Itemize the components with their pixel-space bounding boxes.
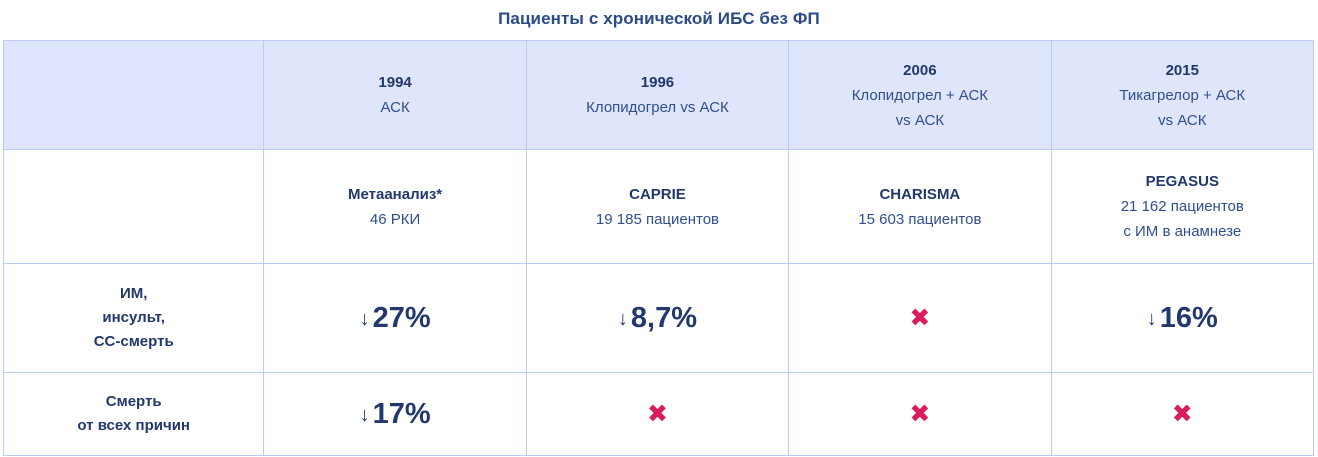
table-header-row: 1994 АСК 1996 Клопидогрел vs АСК 2006 Кл… bbox=[4, 41, 1314, 150]
cell-death-2015: ✖ bbox=[1051, 373, 1313, 456]
row-label-mi-stroke-cvdeath: ИМ, инсульт, СС-смерть bbox=[4, 264, 264, 373]
header-cell-2015: 2015 Тикагрелор + АСКvs АСК bbox=[1051, 41, 1313, 150]
cross-icon: ✖ bbox=[1172, 400, 1193, 428]
header-desc: Клопидогрел vs АСК bbox=[527, 95, 788, 120]
row-label-line: от всех причин bbox=[4, 414, 263, 438]
cell-death-2006: ✖ bbox=[789, 373, 1051, 456]
table-row-all-cause-death: Смерть от всех причин ↓17% ✖ ✖ ✖ bbox=[4, 373, 1314, 456]
study-subtext: 21 162 пациентовс ИМ в анамнезе bbox=[1052, 194, 1313, 244]
header-cell-1996: 1996 Клопидогрел vs АСК bbox=[526, 41, 788, 150]
study-subtext: 46 РКИ bbox=[264, 207, 525, 232]
slide-container: Пациенты с хронической ИБС без ФП 1994 А… bbox=[0, 0, 1318, 457]
cell-mi-2006: ✖ bbox=[789, 264, 1051, 373]
header-corner-cell bbox=[4, 41, 264, 150]
cell-mi-1994: ↓27% bbox=[264, 264, 526, 373]
header-desc: АСК bbox=[264, 95, 525, 120]
cross-icon: ✖ bbox=[909, 400, 930, 428]
comparison-table: 1994 АСК 1996 Клопидогрел vs АСК 2006 Кл… bbox=[3, 40, 1314, 456]
table-study-row: Метаанализ* 46 РКИ CAPRIE 19 185 пациент… bbox=[4, 150, 1314, 264]
header-desc: Тикагрелор + АСКvs АСК bbox=[1052, 83, 1313, 133]
value-reduction: ↓16% bbox=[1147, 302, 1218, 334]
row-label-line: ИМ, bbox=[4, 282, 263, 306]
page-title: Пациенты с хронической ИБС без ФП bbox=[0, 0, 1318, 33]
header-year: 1996 bbox=[527, 70, 788, 95]
study-cell-charisma: CHARISMA 15 603 пациентов bbox=[789, 150, 1051, 264]
header-cell-1994: 1994 АСК bbox=[264, 41, 526, 150]
header-year: 2006 bbox=[789, 58, 1050, 83]
header-desc: Клопидогрел + АСКvs АСК bbox=[789, 83, 1050, 133]
cross-icon: ✖ bbox=[647, 400, 668, 428]
row-label-line: Смерть bbox=[4, 390, 263, 414]
value-text: 16% bbox=[1160, 302, 1218, 334]
cell-mi-1996: ↓8,7% bbox=[526, 264, 788, 373]
value-reduction: ↓17% bbox=[360, 398, 431, 430]
study-cell-caprie: CAPRIE 19 185 пациентов bbox=[526, 150, 788, 264]
value-reduction: ↓27% bbox=[360, 302, 431, 334]
study-name: Метаанализ* bbox=[264, 182, 525, 207]
value-text: 27% bbox=[373, 302, 431, 334]
row-label-line: СС-смерть bbox=[4, 330, 263, 354]
study-cell-metaanalysis: Метаанализ* 46 РКИ bbox=[264, 150, 526, 264]
cell-mi-2015: ↓16% bbox=[1051, 264, 1313, 373]
value-reduction: ↓8,7% bbox=[618, 302, 697, 334]
header-year: 2015 bbox=[1052, 58, 1313, 83]
study-name: PEGASUS bbox=[1052, 169, 1313, 194]
study-corner-cell bbox=[4, 150, 264, 264]
study-subtext: 15 603 пациентов bbox=[789, 207, 1050, 232]
arrow-down-icon: ↓ bbox=[618, 308, 628, 330]
header-year: 1994 bbox=[264, 70, 525, 95]
arrow-down-icon: ↓ bbox=[360, 404, 370, 426]
cell-death-1994: ↓17% bbox=[264, 373, 526, 456]
value-text: 17% bbox=[373, 398, 431, 430]
cross-icon: ✖ bbox=[909, 304, 930, 332]
arrow-down-icon: ↓ bbox=[360, 308, 370, 330]
study-name: CAPRIE bbox=[527, 182, 788, 207]
study-subtext: 19 185 пациентов bbox=[527, 207, 788, 232]
study-name: CHARISMA bbox=[789, 182, 1050, 207]
row-label-line: инсульт, bbox=[4, 306, 263, 330]
study-cell-pegasus: PEGASUS 21 162 пациентовс ИМ в анамнезе bbox=[1051, 150, 1313, 264]
arrow-down-icon: ↓ bbox=[1147, 308, 1157, 330]
header-cell-2006: 2006 Клопидогрел + АСКvs АСК bbox=[789, 41, 1051, 150]
cell-death-1996: ✖ bbox=[526, 373, 788, 456]
value-text: 8,7% bbox=[631, 302, 697, 334]
row-label-all-cause-death: Смерть от всех причин bbox=[4, 373, 264, 456]
table-row-mi-stroke-cvdeath: ИМ, инсульт, СС-смерть ↓27% ↓8,7% ✖ ↓16% bbox=[4, 264, 1314, 373]
